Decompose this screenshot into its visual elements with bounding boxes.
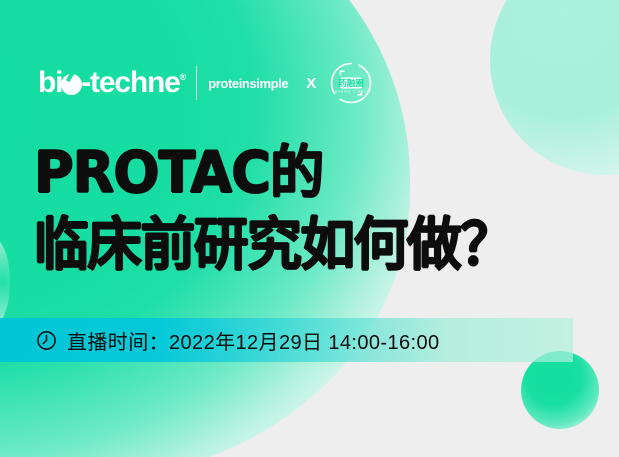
logo-row: bi-techne® proteinsimple X 药融圈 PHARMA CI… xyxy=(38,60,373,106)
svg-text:PHARMA CIRCLE: PHARMA CIRCLE xyxy=(332,90,370,94)
green-circle-bottom-right-icon xyxy=(521,351,599,429)
webinar-poster: bi-techne® proteinsimple X 药融圈 PHARMA CI… xyxy=(0,0,619,457)
biotechne-o-mark-icon xyxy=(61,74,82,95)
biotechne-logo-text-part1: bi xyxy=(38,66,62,99)
proteinsimple-logo-label: proteinsimple xyxy=(208,76,288,91)
partner-logo: 药融圈 PHARMA CIRCLE xyxy=(329,61,373,105)
headline-line-2: 临床前研究如何做？ xyxy=(34,218,514,272)
collaboration-x-label: X xyxy=(306,75,316,92)
biotechne-logo: bi-techne® xyxy=(38,68,186,98)
svg-text:药融圈: 药融圈 xyxy=(338,77,364,89)
schedule-text: 直播时间：2022年12月29日 14:00-16:00 xyxy=(67,326,440,355)
schedule-bar: 直播时间：2022年12月29日 14:00-16:00 xyxy=(0,318,573,362)
poster-headline: PROTAC的 临床前研究如何做？ xyxy=(34,146,534,272)
biotechne-logo-text-part2: -techne xyxy=(81,66,179,99)
proteinsimple-logo: proteinsimple xyxy=(208,77,288,90)
logo-divider xyxy=(196,66,197,100)
headline-line-1: PROTAC的 xyxy=(34,146,509,200)
registered-trademark-icon: ® xyxy=(180,72,187,82)
clock-icon xyxy=(36,330,57,351)
partner-logo-icon: 药融圈 PHARMA CIRCLE xyxy=(329,61,373,105)
schedule-inner: 直播时间：2022年12月29日 14:00-16:00 xyxy=(36,326,440,355)
